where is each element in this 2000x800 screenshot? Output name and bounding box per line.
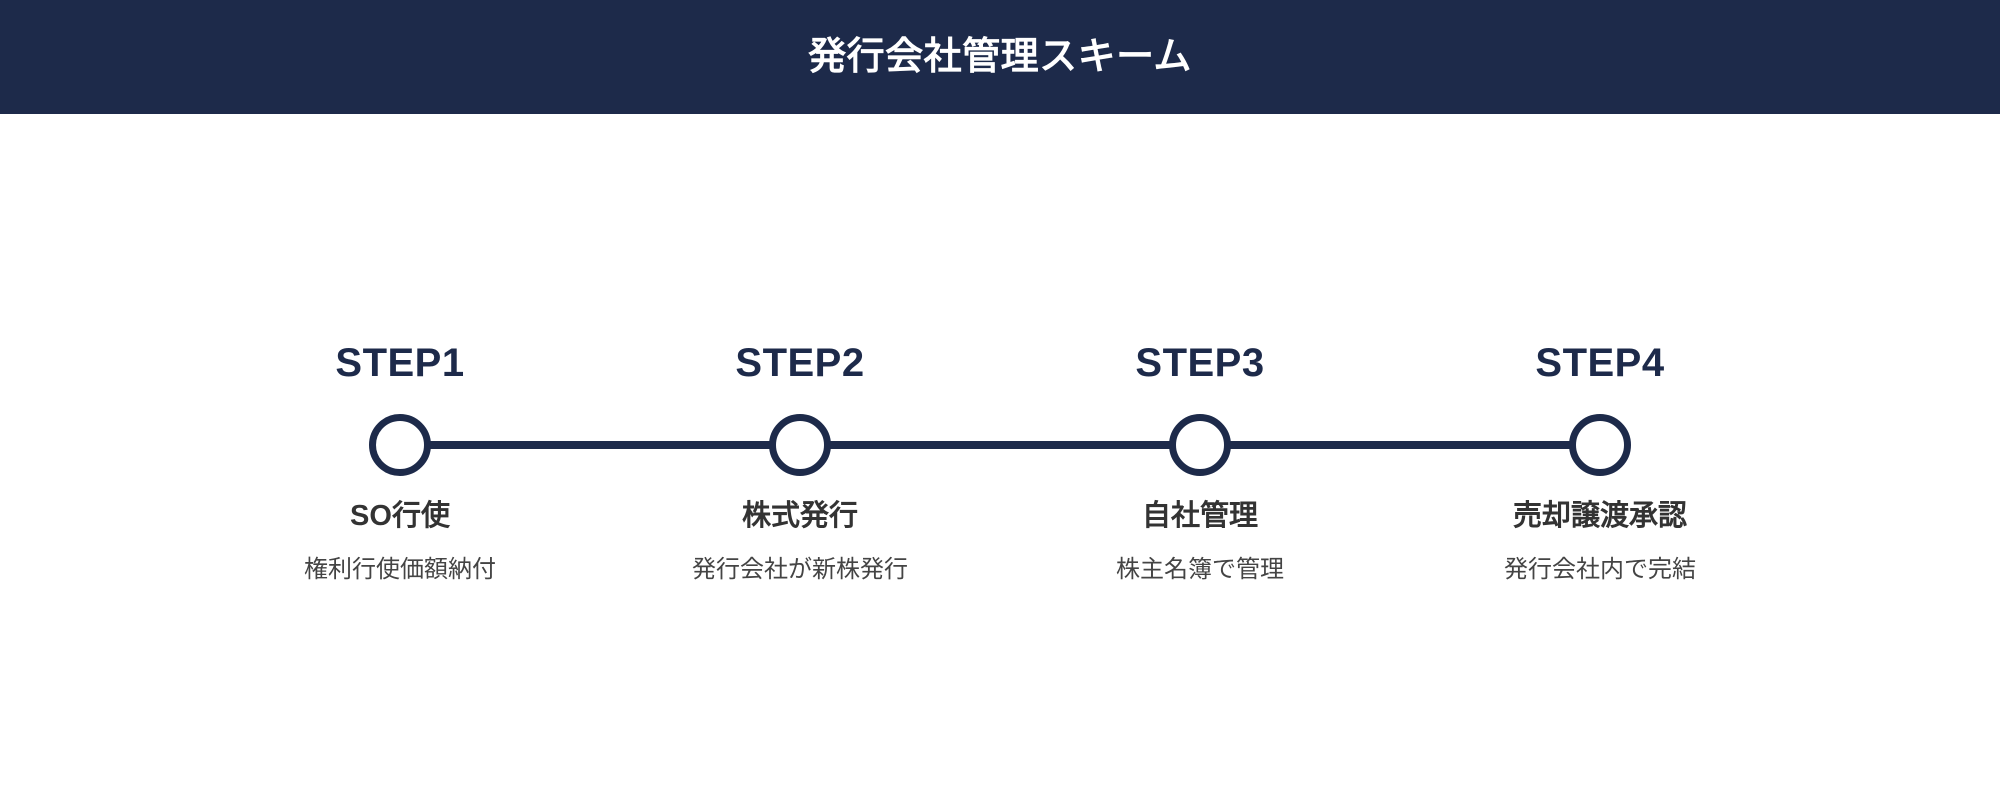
step-node-circle-icon: [1169, 414, 1231, 476]
step-kicker-label: STEP2: [620, 340, 980, 386]
step-description: 発行会社が新株発行: [620, 554, 980, 586]
step-node-circle-icon: [769, 414, 831, 476]
step-node-circle-icon: [1569, 414, 1631, 476]
page-title: 発行会社管理スキーム: [808, 38, 1192, 76]
step-kicker-label: STEP3: [1020, 340, 1380, 386]
step-title: 売却譲渡承認: [1420, 498, 1780, 536]
step-kicker-label: STEP1: [220, 340, 580, 386]
step-description: 権利行使価額納付: [220, 554, 580, 586]
header-bar: 発行会社管理スキーム: [0, 0, 2000, 114]
step-title: 自社管理: [1020, 498, 1380, 536]
step-description: 発行会社内で完結: [1420, 554, 1780, 586]
timeline-steps: STEP1 SO行使 権利行使価額納付 STEP2 株式発行 発行会社が新株発行…: [0, 114, 2000, 800]
step-kicker-label: STEP4: [1420, 340, 1780, 386]
step-title: 株式発行: [620, 498, 980, 536]
step-description: 株主名簿で管理: [1020, 554, 1380, 586]
diagram-page: 発行会社管理スキーム STEP1 SO行使 権利行使価額納付 STEP2 株式発…: [0, 0, 2000, 800]
timeline-diagram: STEP1 SO行使 権利行使価額納付 STEP2 株式発行 発行会社が新株発行…: [0, 114, 2000, 800]
step-node-circle-icon: [369, 414, 431, 476]
step-title: SO行使: [220, 498, 580, 536]
